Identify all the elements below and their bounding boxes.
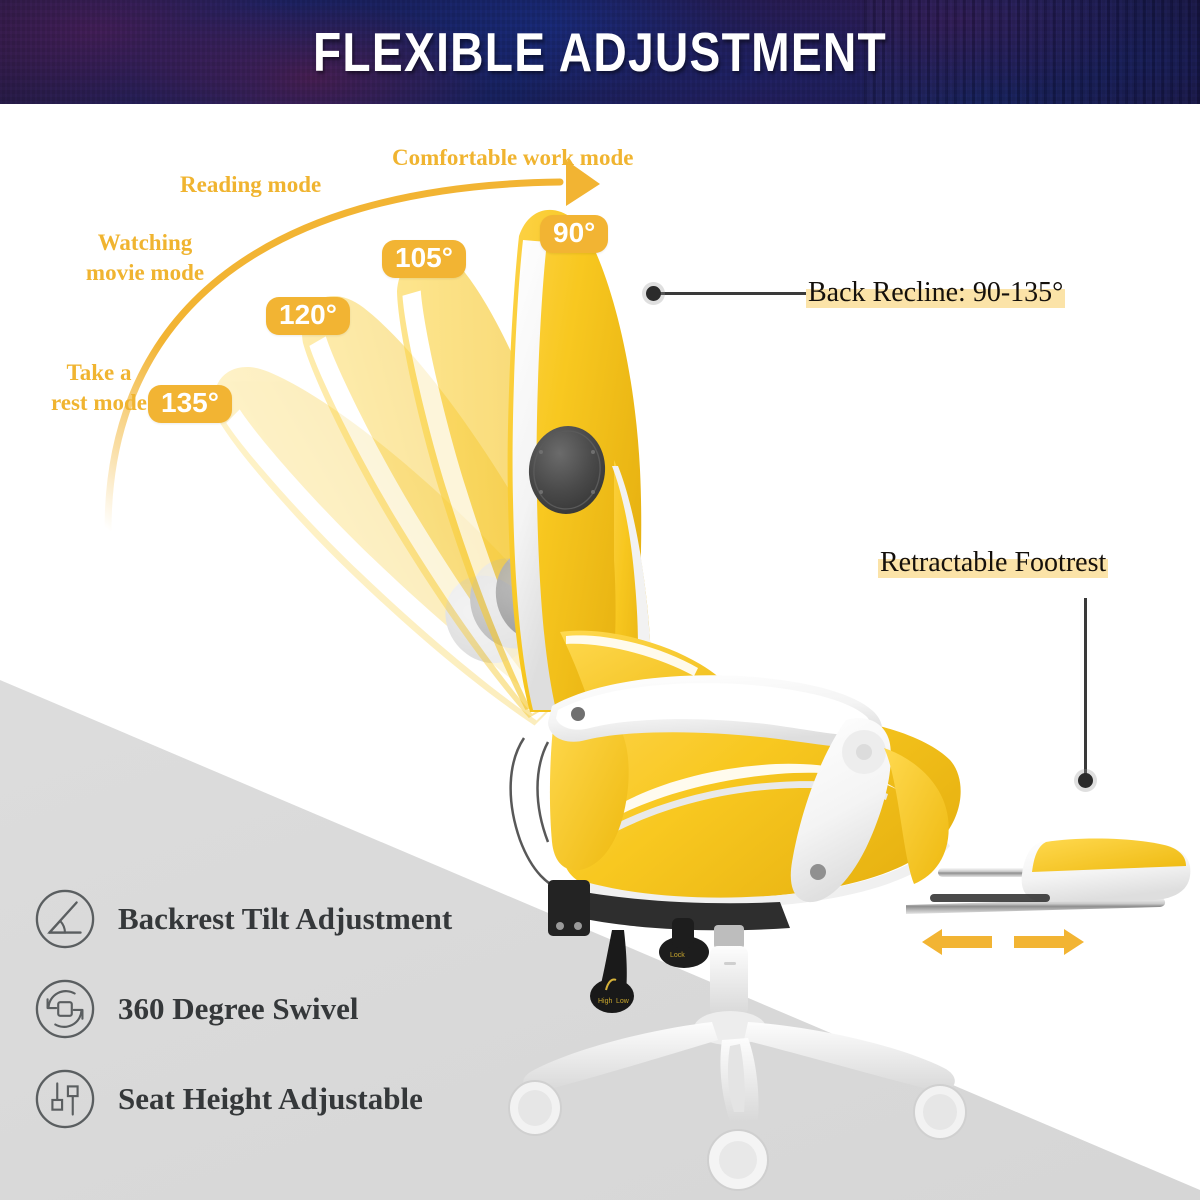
page-title: FLEXIBLE ADJUSTMENT xyxy=(96,0,1104,104)
backrest-tilt-icon xyxy=(34,888,96,950)
callout-dot-back-recline xyxy=(646,286,661,301)
chair-seat xyxy=(550,704,961,908)
angle-badge-120: 120° xyxy=(266,297,350,335)
callout-footrest-label: Retractable Footrest xyxy=(878,547,1108,578)
chair-armrest xyxy=(548,675,949,902)
mode-label-rest: Take a rest mode xyxy=(34,358,164,418)
infographic-canvas: FLEXIBLE ADJUSTMENT xyxy=(0,0,1200,1200)
angle-badge-105: 105° xyxy=(382,240,466,278)
callout-line-back-recline xyxy=(660,292,808,295)
feature-label-seat-height: Seat Height Adjustable xyxy=(118,1081,423,1117)
arrow-left-icon xyxy=(922,929,992,955)
footrest-slide-arrows xyxy=(920,925,1086,959)
mode-label-watching: Watching movie mode xyxy=(60,228,230,288)
feature-label-backrest-tilt: Backrest Tilt Adjustment xyxy=(118,901,452,937)
feature-360-swivel: 360 Degree Swivel xyxy=(34,978,358,1040)
seat-height-icon xyxy=(34,1068,96,1130)
header-banner: FLEXIBLE ADJUSTMENT xyxy=(0,0,1200,104)
callout-back-recline-label: Back Recline: 90-135° xyxy=(806,277,1065,308)
angle-badge-135: 135° xyxy=(148,385,232,423)
callout-retractable-footrest: Retractable Footrest xyxy=(878,547,1108,579)
swivel-360-icon xyxy=(34,978,96,1040)
svg-text:Lock: Lock xyxy=(670,952,685,959)
feature-backrest-tilt: Backrest Tilt Adjustment xyxy=(34,888,452,950)
mode-label-comfortable: Comfortable work mode xyxy=(392,143,692,173)
callout-back-recline: Back Recline: 90-135° xyxy=(806,277,1065,309)
chair-backrest xyxy=(508,210,741,726)
callout-line-footrest xyxy=(1084,598,1087,780)
retractable-footrest xyxy=(906,839,1190,914)
feature-label-360-swivel: 360 Degree Swivel xyxy=(118,991,358,1027)
angle-badge-90: 90° xyxy=(540,215,608,253)
feature-seat-height: Seat Height Adjustable xyxy=(34,1068,423,1130)
arrow-right-icon xyxy=(1014,929,1084,955)
mode-label-reading: Reading mode xyxy=(180,170,380,200)
callout-dot-footrest xyxy=(1078,773,1093,788)
